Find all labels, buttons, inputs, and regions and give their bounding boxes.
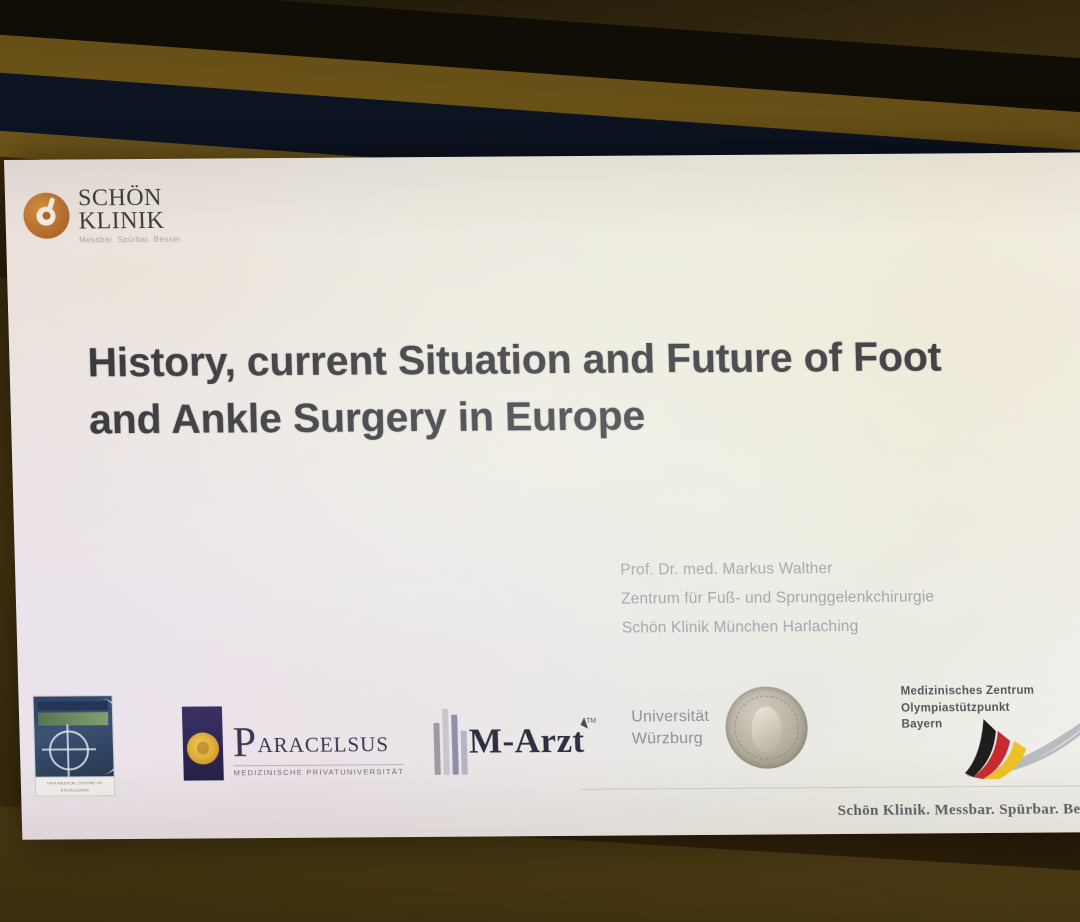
paracelsus-name: PARACELSUS [232,727,403,759]
logo-line-1: SCHÖN [78,187,182,211]
author-department: Zentrum für Fuß- und Sprunggelenkchirurg… [621,583,935,614]
footer-divider [581,785,1080,790]
uni-line-1: Universität [631,708,709,726]
paracelsus-rest: ARACELSUS [257,732,389,757]
olympia-line-3: Bayern [901,719,942,731]
schoen-klinik-mark-icon [23,193,70,239]
m-arzt-name: M-Arzt [468,721,585,762]
schoen-klinik-wordmark: SCHÖN KLINIK Messbar. Spürbar. Besser. [78,187,183,244]
logo-line-2: KLINIK [78,210,182,234]
schoen-klinik-logo: SCHÖN KLINIK Messbar. Spürbar. Besser. [23,187,183,245]
author-block: Prof. Dr. med. Markus Walther Zentrum fü… [620,553,935,643]
photo-scene: SCHÖN KLINIK Messbar. Spürbar. Besser. H… [0,0,1080,922]
uni-wuerzburg-wordmark: Universität Würzburg [631,706,710,750]
projection-screen: SCHÖN KLINIK Messbar. Spürbar. Besser. H… [4,152,1080,839]
plate-swoosh-icon [76,698,115,774]
logo-claim: Messbar. Spürbar. Besser. [79,236,183,244]
partner-logo-strip: FIFA MEDICAL CENTRE OF EXCELLENCE PARACE… [18,666,1080,784]
author-institution: Schön Klinik München Harlaching [622,612,936,643]
olympia-line-1: Medizinisches Zentrum [901,685,1035,698]
partner-logo-uni-wuerzburg: Universität Würzburg [630,686,808,769]
medical-board-plate-icon [33,695,115,778]
uni-line-2: Würzburg [632,730,703,747]
footer-claim: Schön Klinik. Messbar. Spürbar. Besser. [837,801,1080,820]
partner-logo-paracelsus: PARACELSUS MEDIZINISCHE PRIVATUNIVERSITÄ… [182,705,404,781]
paracelsus-crest-icon [182,706,224,780]
uni-wuerzburg-seal-icon [724,686,808,769]
paracelsus-sun-icon [187,732,220,764]
paracelsus-initial: P [232,720,258,766]
presentation-slide: SCHÖN KLINIK Messbar. Spürbar. Besser. H… [4,152,1080,839]
paracelsus-wordmark: PARACELSUS MEDIZINISCHE PRIVATUNIVERSITÄ… [232,727,404,780]
paracelsus-subtitle: MEDIZINISCHE PRIVATUNIVERSITÄT [233,764,404,777]
slide-title: History, current Situation and Future of… [87,328,970,447]
german-flag-fan-icon [955,700,1080,779]
medical-board-caption: FIFA MEDICAL CENTRE OF EXCELLENCE [35,777,116,797]
m-arzt-trademark-icon: TM [586,718,596,725]
partner-logo-medical-board: FIFA MEDICAL CENTRE OF EXCELLENCE [33,695,114,792]
logo-tick-icon [46,198,55,214]
author-name: Prof. Dr. med. Markus Walther [620,553,934,584]
m-arzt-bars-icon [433,709,468,775]
partner-logo-olympiastuetzpunkt: Medizinisches Zentrum Olympiastützpunkt … [888,676,1080,781]
partner-logo-m-arzt: M-Arzt TM [433,708,598,775]
